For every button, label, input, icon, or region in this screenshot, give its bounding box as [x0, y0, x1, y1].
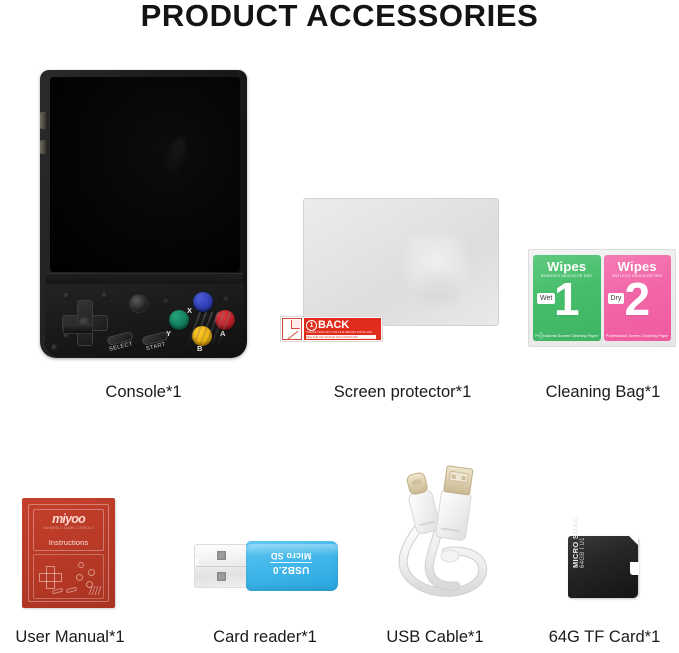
- wipe-packet-wet: Wipes REMOVES INDICATOR DIRT 1 Wet Profe…: [533, 255, 601, 341]
- reader-connector-seam: [196, 566, 252, 567]
- reader-markings: USB2.0 Micro SD: [256, 551, 326, 580]
- wipe-dry-title: Wipes: [618, 260, 657, 273]
- manual-brand-tagline: HANDHELD GAME CONSOLE: [43, 526, 94, 530]
- wipe-dry-state: Dry: [608, 293, 625, 304]
- peel-corner-icon: [282, 318, 302, 340]
- back-tab-text-block: 1BACK PLEASE TEAR OFF THIS FILM BEFORE I…: [304, 318, 381, 340]
- caption-tf-card: 64G TF Card*1: [530, 628, 679, 647]
- tf-card-body: MICRO SDXC 64GB I U1: [568, 536, 638, 598]
- volume-down-button: [40, 140, 46, 154]
- back-tab-subtext-2: PEEL FILM OFF ON BACK WITH PROTECTOR: [306, 335, 376, 338]
- screw: [51, 344, 58, 351]
- caption-user-manual: User Manual*1: [0, 628, 140, 647]
- tf-card-type-text: MICRO SDXC: [572, 522, 580, 568]
- wipe-wet-state: Wet: [537, 293, 555, 304]
- wipe-dry-number: 2: [624, 277, 650, 321]
- reader-card-type-text: Micro SD: [256, 551, 326, 561]
- product-console: X Y A B SELECT START: [36, 70, 251, 360]
- protector-shadow: [420, 272, 460, 306]
- diagram-dpad-vertical: [46, 566, 55, 589]
- panel-hole: [163, 298, 170, 305]
- back-tab-heading: 1BACK: [306, 320, 379, 331]
- tf-card-corner-cut: [629, 536, 638, 545]
- wipe-wet-title: Wipes: [547, 260, 586, 273]
- diagram-start: [66, 587, 78, 594]
- manual-cover: miyoo HANDHELD GAME CONSOLE Instructions: [22, 498, 115, 608]
- tf-card-markings: MICRO SDXC 64GB I U1: [572, 522, 587, 568]
- caption-usb-cable: USB Cable*1: [360, 628, 510, 647]
- console-display: [50, 77, 240, 272]
- wipe-packet-dry: Wipes ANTI-FOG INDICATOR DRY 2 Dry Profe…: [604, 255, 672, 341]
- back-tab-word: BACK: [318, 319, 349, 331]
- sachet-notch: [539, 332, 543, 339]
- screw: [101, 292, 108, 299]
- back-tab-number: 1: [306, 320, 317, 331]
- caption-card-reader: Card reader*1: [185, 628, 345, 647]
- tf-card-capacity-text: 64GB I U1: [580, 522, 587, 568]
- reader-connector-window: [217, 551, 226, 560]
- reader-plastic-housing: USB2.0 Micro SD: [246, 541, 338, 591]
- diagram-button: [76, 574, 83, 581]
- console-body: X Y A B SELECT START: [40, 70, 247, 358]
- back-tab-subtext-1: PLEASE TEAR OFF THIS FILM BEFORE INSTALL…: [306, 331, 376, 334]
- analog-stick: [129, 294, 148, 313]
- screen-glare: [162, 134, 189, 179]
- caption-screen-protector: Screen protector*1: [295, 383, 510, 402]
- manual-title: Instructions: [49, 538, 89, 547]
- cleaning-bag-sachet: Wipes REMOVES INDICATOR DIRT 1 Wet Profe…: [528, 249, 676, 347]
- wipe-wet-number: 1: [554, 277, 580, 321]
- product-cleaning-bag: Wipes REMOVES INDICATOR DIRT 1 Wet Profe…: [528, 249, 678, 349]
- button-x: [193, 292, 213, 312]
- speaker-grill: [191, 312, 233, 346]
- tf-card-notch: [630, 562, 639, 575]
- page-title: PRODUCT ACCESSORIES: [0, 0, 679, 34]
- reader-usb-connector: [194, 544, 252, 588]
- reader-connector-tip: [195, 558, 199, 576]
- product-screen-protector: 1BACK PLEASE TEAR OFF THIS FILM BEFORE I…: [303, 198, 501, 348]
- dpad: [62, 300, 108, 346]
- usb-cable-drawing: [384, 456, 500, 608]
- wipe-wet-footer: Professional Screen Cleaning Paper: [533, 334, 601, 338]
- product-card-reader: USB2.0 Micro SD: [192, 535, 340, 597]
- button-y: [169, 310, 189, 330]
- volume-up-button: [40, 112, 46, 129]
- panel-hole: [223, 296, 230, 303]
- caption-console: Console*1: [36, 383, 251, 402]
- diagram-button: [78, 562, 84, 568]
- panel-insert: [63, 324, 93, 334]
- wipe-dry-footer: Professional Screen Cleaning Paper: [604, 334, 672, 338]
- product-tf-card: MICRO SDXC 64GB I U1: [568, 536, 654, 606]
- console-control-panel: X Y A B SELECT START: [45, 284, 244, 357]
- manual-title-block: miyoo HANDHELD GAME CONSOLE Instructions: [33, 509, 104, 551]
- screw: [63, 292, 70, 299]
- manual-brand-logo: miyoo: [52, 513, 85, 526]
- product-usb-cable: [384, 456, 500, 608]
- protector-back-tab: 1BACK PLEASE TEAR OFF THIS FILM BEFORE I…: [280, 316, 383, 342]
- reader-connector-window: [217, 572, 226, 581]
- caption-cleaning-bag: Cleaning Bag*1: [518, 383, 679, 402]
- reader-usb-version-text: USB2.0: [270, 562, 313, 575]
- protector-sheet: [303, 198, 499, 326]
- diagram-button: [88, 569, 95, 576]
- manual-console-diagram: [33, 554, 104, 599]
- product-user-manual: miyoo HANDHELD GAME CONSOLE Instructions: [22, 498, 118, 610]
